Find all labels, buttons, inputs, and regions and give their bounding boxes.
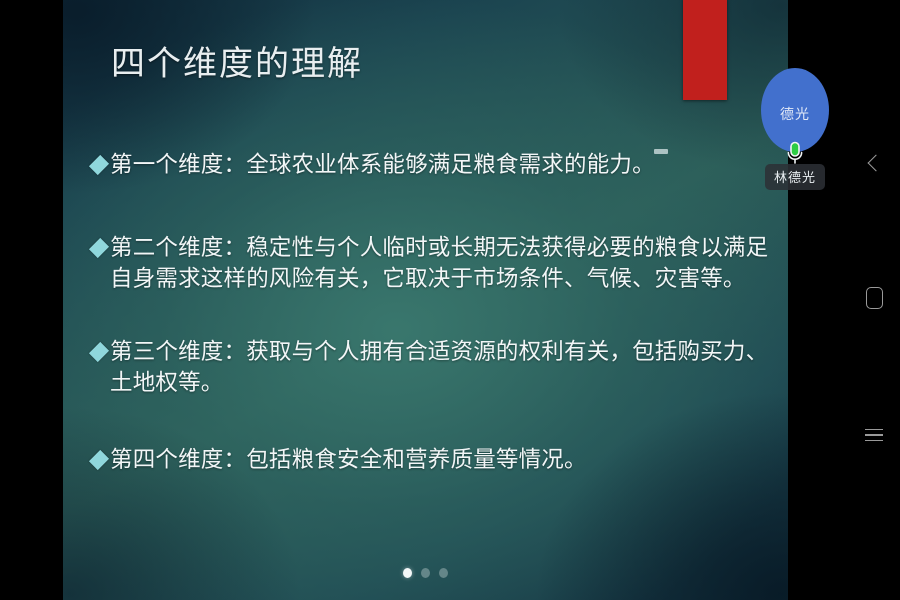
avatar[interactable]: 德光 [761, 68, 829, 152]
list-item: 第四个维度：包括粮食安全和营养质量等情况。 [91, 445, 771, 476]
page-title: 四个维度的理解 [111, 44, 363, 85]
home-rounded-icon [866, 287, 883, 309]
diamond-bullet-icon [89, 342, 109, 362]
letterbox-left [0, 0, 63, 600]
page-dot-1[interactable] [403, 568, 412, 578]
device-screen: 四个维度的理解 第一个维度：全球农业体系能够满足粮食需求的能力。 第二个维度：稳… [0, 0, 900, 600]
list-item-label: 第二个维度：稳定性与个人临时或长期无法获得必要的粮食以满足自身需求这样的风险有关… [110, 233, 771, 295]
avatar-initials-label: 德光 [780, 104, 810, 124]
bullet-list: 第一个维度：全球农业体系能够满足粮食需求的能力。 第二个维度：稳定性与个人临时或… [91, 150, 771, 476]
back-button[interactable] [848, 140, 900, 186]
diamond-bullet-icon [89, 238, 109, 258]
recent-apps-icon [865, 429, 883, 442]
recent-apps-button[interactable] [848, 412, 900, 458]
microphone-icon[interactable] [784, 140, 806, 166]
list-item-label: 第四个维度：包括粮食安全和营养质量等情况。 [110, 445, 771, 476]
page-dot-2[interactable] [421, 568, 430, 578]
list-item-label: 第三个维度：获取与个人拥有合适资源的权利有关，包括购买力、土地权等。 [110, 337, 771, 399]
speaker-name-label: 林德光 [765, 164, 825, 190]
navigation-bar [848, 0, 900, 600]
list-item: 第三个维度：获取与个人拥有合适资源的权利有关，包括购买力、土地权等。 [91, 337, 771, 399]
page-dot-3[interactable] [439, 568, 448, 578]
presentation-slide[interactable]: 四个维度的理解 第一个维度：全球农业体系能够满足粮食需求的能力。 第二个维度：稳… [63, 0, 788, 600]
home-button[interactable] [848, 275, 900, 321]
speaker-overlay[interactable]: 德光 林德光 [750, 68, 840, 190]
list-item-label: 第一个维度：全球农业体系能够满足粮食需求的能力。 [110, 150, 771, 181]
diamond-bullet-icon [89, 155, 109, 175]
list-item: 第一个维度：全球农业体系能够满足粮食需求的能力。 [91, 150, 771, 181]
diamond-bullet-icon [89, 450, 109, 470]
page-indicator-dots[interactable] [63, 568, 788, 578]
chevron-back-icon [868, 155, 885, 172]
red-annotation-rectangle [683, 0, 727, 100]
text-caret-artifact [654, 149, 668, 154]
list-item: 第二个维度：稳定性与个人临时或长期无法获得必要的粮食以满足自身需求这样的风险有关… [91, 233, 771, 295]
